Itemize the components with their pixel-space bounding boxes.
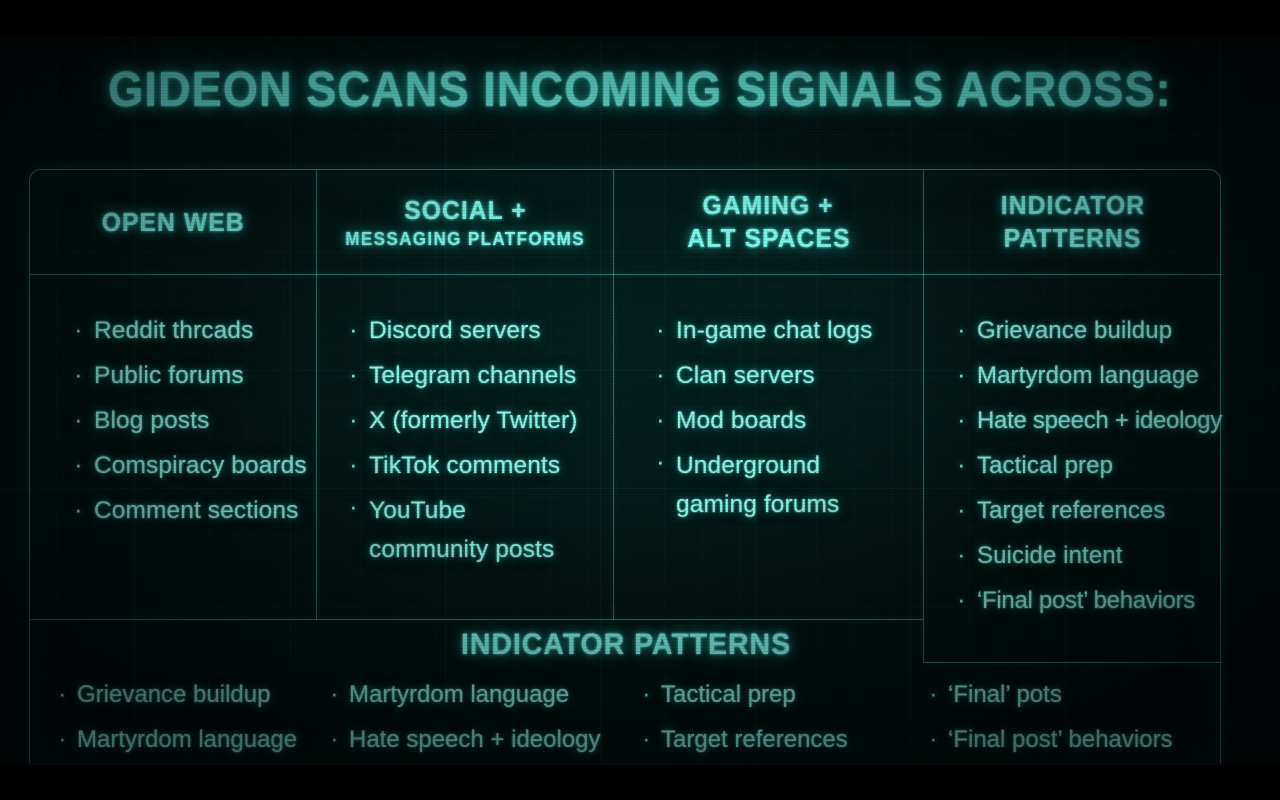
- column-header-line1: GAMING +: [703, 190, 834, 221]
- list-item: Mod boards: [656, 398, 923, 443]
- list-item: X (formerly Twitter): [349, 398, 613, 443]
- list-item: Public forums: [74, 353, 316, 398]
- column-header-line2: MESSAGING PLATFORMS: [345, 229, 585, 250]
- list-item: Martyrdom language: [957, 353, 1234, 398]
- bottom-column-4: ‘Final’ pots ‘Final post’ behaviors: [915, 672, 1215, 762]
- list-social-messaging: Discord servers Telegram channels X (for…: [349, 308, 613, 572]
- bottom-columns: Grievance buildup Martyrdom language Mar…: [30, 672, 1222, 762]
- bottom-column-1: Grievance buildup Martyrdom language: [30, 672, 330, 762]
- column-header-social-messaging: SOCIAL + MESSAGING PLATFORMS: [317, 170, 613, 274]
- list-open-web: Reddit thrcads Public forums Blog posts …: [74, 308, 316, 533]
- list-item: Martyrdom language: [58, 717, 330, 762]
- list-item: Reddit thrcads: [74, 308, 316, 353]
- list-item: Hate speech + ideology: [957, 398, 1234, 443]
- bottom-section-title: INDICATOR PATTERNS: [60, 628, 1192, 662]
- list-indicator-patterns: Grievance buildup Martyrdom language Hat…: [957, 308, 1234, 623]
- list-item: YouTube community posts: [349, 488, 613, 572]
- bottom-column-2: Martyrdom language Hate speech + ideolog…: [330, 672, 630, 762]
- column-gaming-alt-spaces: In-game chat logs Clan servers Mod board…: [614, 275, 923, 527]
- slide-stage: GIDEON SCANS INCOMING SIGNALS ACROSS: OP…: [0, 36, 1280, 765]
- list-item: ‘Final post’ behaviors: [957, 578, 1234, 623]
- list-item: Hate speech + ideology: [330, 717, 630, 762]
- list-item: Clan servers: [656, 353, 923, 398]
- bottom-list-1: Grievance buildup Martyrdom language: [58, 672, 330, 762]
- bottom-indicator-section: INDICATOR PATTERNS Grievance buildup Mar…: [30, 620, 1222, 764]
- bottom-list-2: Martyrdom language Hate speech + ideolog…: [330, 672, 630, 762]
- letterbox-top: [0, 0, 1280, 36]
- column-lists: Reddit thrcads Public forums Blog posts …: [30, 275, 1222, 665]
- list-item: Grievance buildup: [957, 308, 1234, 353]
- column-header-line1: INDICATOR: [1001, 190, 1145, 221]
- letterbox-bottom: [0, 765, 1280, 800]
- list-item: ‘Final’ pots: [929, 672, 1215, 717]
- list-item: TikTok comments: [349, 443, 613, 488]
- bottom-list-3: Tactical prep Target references: [642, 672, 915, 762]
- page-title: GIDEON SCANS INCOMING SIGNALS ACROSS:: [51, 62, 1229, 118]
- column-header-indicator-patterns: INDICATOR PATTERNS: [924, 170, 1222, 274]
- column-header-line1: SOCIAL +: [404, 195, 527, 226]
- column-social-messaging: Discord servers Telegram channels X (for…: [317, 275, 613, 572]
- presentation-screen: GIDEON SCANS INCOMING SIGNALS ACROSS: OP…: [0, 0, 1280, 800]
- list-item: Tactical prep: [642, 672, 915, 717]
- column-header-open-web: OPEN WEB: [30, 170, 316, 274]
- column-header-line2: ALT SPACES: [687, 223, 850, 254]
- list-item: Suicide intent: [957, 533, 1234, 578]
- column-header-line1: OPEN WEB: [102, 207, 245, 238]
- list-item: Comment sections: [74, 488, 316, 533]
- list-item: Martyrdom language: [330, 672, 630, 717]
- list-item: ‘Final post’ behaviors: [929, 717, 1215, 762]
- bottom-column-3: Tactical prep Target references: [630, 672, 915, 762]
- list-item: Underground gaming forums: [656, 443, 923, 527]
- bottom-list-4: ‘Final’ pots ‘Final post’ behaviors: [929, 672, 1215, 762]
- column-indicator-patterns: Grievance buildup Martyrdom language Hat…: [924, 275, 1234, 623]
- list-item: Target references: [957, 488, 1234, 533]
- list-item: Grievance buildup: [58, 672, 330, 717]
- list-item: In-game chat logs: [656, 308, 923, 353]
- list-item: Discord servers: [349, 308, 613, 353]
- list-item: Target references: [642, 717, 915, 762]
- list-item: Blog posts: [74, 398, 316, 443]
- list-gaming-alt-spaces: In-game chat logs Clan servers Mod board…: [656, 308, 923, 527]
- column-headers: OPEN WEB SOCIAL + MESSAGING PLATFORMS GA…: [30, 170, 1222, 274]
- column-header-gaming-alt-spaces: GAMING + ALT SPACES: [614, 170, 923, 274]
- list-item: Tactical prep: [957, 443, 1234, 488]
- column-open-web: Reddit thrcads Public forums Blog posts …: [30, 275, 316, 533]
- signals-board: OPEN WEB SOCIAL + MESSAGING PLATFORMS GA…: [29, 169, 1221, 763]
- list-item: Telegram channels: [349, 353, 613, 398]
- column-header-line2: PATTERNS: [1004, 223, 1142, 254]
- list-item: Comspiracy boards: [74, 443, 316, 488]
